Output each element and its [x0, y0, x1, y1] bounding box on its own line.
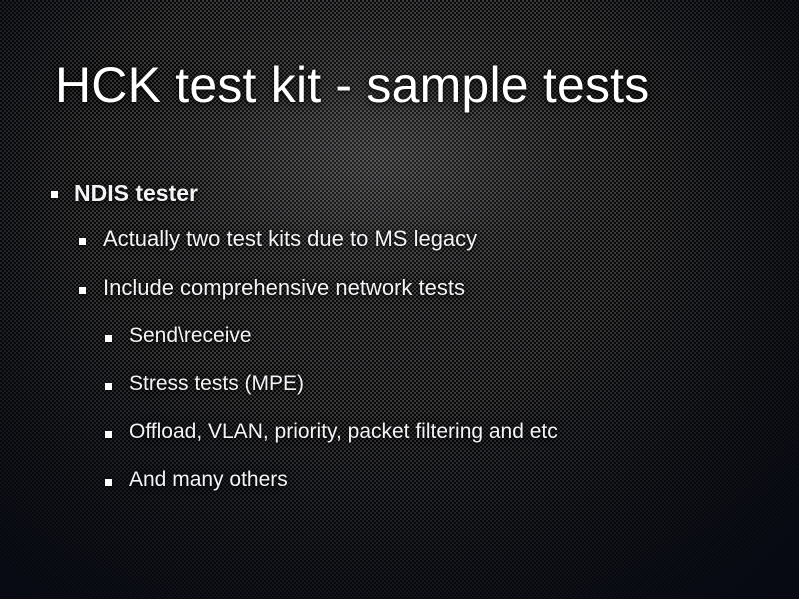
- bullet-item-label: Include comprehensive network tests: [103, 273, 465, 303]
- bullet-item-level-2: Actually two test kits due to MS legacy: [0, 224, 799, 273]
- square-bullet-icon: [105, 383, 112, 390]
- bullet-item-level-3: Stress tests (MPE): [0, 370, 799, 418]
- square-bullet-icon: [51, 191, 58, 198]
- bullet-item-label: Actually two test kits due to MS legacy: [103, 224, 477, 254]
- bullet-item-level-3: Send\receive: [0, 322, 799, 370]
- slide-title: HCK test kit - sample tests: [55, 56, 649, 114]
- square-bullet-icon: [105, 479, 112, 486]
- bullet-item-level-3: Offload, VLAN, priority, packet filterin…: [0, 418, 799, 466]
- bullet-item-label: NDIS tester: [74, 178, 198, 208]
- bullet-item-label: Stress tests (MPE): [129, 370, 304, 398]
- bullet-item-level-1: NDIS tester: [0, 178, 799, 224]
- bullet-item-level-2: Include comprehensive network tests: [0, 273, 799, 322]
- square-bullet-icon: [79, 238, 86, 245]
- square-bullet-icon: [105, 431, 112, 438]
- slide-content: HCK test kit - sample tests NDIS tester …: [0, 0, 799, 599]
- square-bullet-icon: [79, 287, 86, 294]
- bullet-item-label: And many others: [129, 466, 288, 494]
- bullet-item-label: Offload, VLAN, priority, packet filterin…: [129, 418, 558, 446]
- square-bullet-icon: [105, 335, 112, 342]
- bullet-item-label: Send\receive: [129, 322, 252, 350]
- presentation-slide: HCK test kit - sample tests NDIS tester …: [0, 0, 799, 599]
- bullet-item-level-3: And many others: [0, 466, 799, 514]
- slide-bullet-list: NDIS tester Actually two test kits due t…: [0, 178, 799, 514]
